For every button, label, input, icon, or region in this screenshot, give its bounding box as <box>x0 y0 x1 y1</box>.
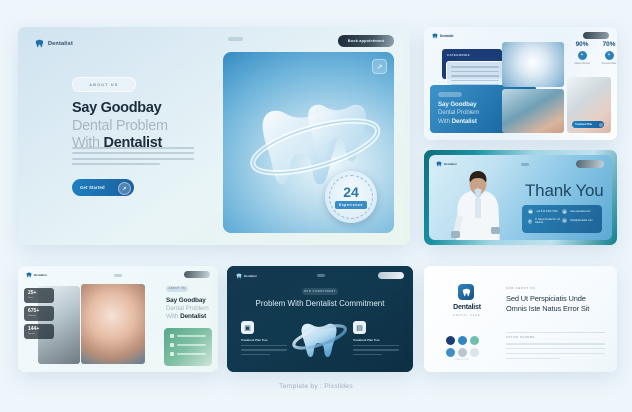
dental-chair-photo <box>502 89 564 133</box>
thank-you-inner: Dentalist Thank You ☎ +62 812 345 <box>429 155 612 240</box>
book-appointment-button[interactable]: Book appointment <box>338 35 394 47</box>
commitment-logo: Dentalist <box>236 273 257 279</box>
stat-chip-value: 144+ <box>28 327 50 332</box>
arrow-right-icon: ↗ <box>118 182 131 195</box>
check-box-icon <box>170 352 174 356</box>
hero-title-line2: Dental Problem <box>72 118 168 136</box>
hero-title-line1: Say Goodbay <box>72 100 168 118</box>
tooth-orbit-illustration <box>288 313 352 367</box>
smile-cta-button[interactable] <box>184 271 210 278</box>
tooth-icon <box>432 33 438 39</box>
stat-chip-0: 25+ Years <box>24 288 54 303</box>
hero-logo-label: Dentalist <box>48 41 73 47</box>
hero-eyebrow-pill: ABOUT US <box>72 77 136 92</box>
color-swatch-grid <box>446 336 479 357</box>
commitment-title: Problem With Dentalist Commitment <box>227 299 413 308</box>
stat-chip-label: Patients <box>28 315 50 317</box>
color-swatch[interactable] <box>470 348 479 357</box>
hero-logo[interactable]: Dentalist <box>35 39 73 48</box>
commitment-eyebrow-label: OUR COMMITMENT <box>304 290 336 293</box>
treatment-plan-button[interactable]: Treatment Plan <box>572 121 604 128</box>
contact-text: www.dentalist.com <box>570 210 591 213</box>
phone-icon: ☎ <box>528 209 533 214</box>
stat-chip-value: 675+ <box>28 309 50 314</box>
contact-item[interactable]: ☎ +62 812 3456 7890 <box>528 209 562 214</box>
thank-you-cta-button[interactable] <box>576 160 604 168</box>
smile-title-line2: Dental Problem <box>166 305 209 313</box>
smile-title-line3-bold: Dentalist <box>180 313 206 320</box>
smile-nav-placeholder[interactable] <box>114 274 122 277</box>
contact-item[interactable]: ◉ www.dentalist.com <box>562 209 596 214</box>
stats-cta-button[interactable] <box>583 32 609 39</box>
swatch-caption: PALETTE <box>446 359 479 361</box>
thank-you-logo-label: Dentalist <box>444 162 457 166</box>
stat-chip-label: Doctors <box>28 333 50 335</box>
calendar-icon: ▤ <box>353 321 366 334</box>
team-hands-photo <box>502 42 564 87</box>
smile-title-line1: Say Goodbay <box>166 297 209 305</box>
tooth-icon <box>26 272 32 278</box>
commitment-eyebrow-pill: OUR COMMITMENT <box>302 288 338 295</box>
stat-chip-value: 25+ <box>28 291 50 296</box>
hero-eyebrow-label: ABOUT US <box>89 83 118 87</box>
stat-chip-1: 675+ Patients <box>24 306 54 321</box>
contact-panel: ☎ +62 812 3456 7890 ● Jl. Raya Dental No… <box>522 205 602 233</box>
commitment-card-title: Treatment Plan Tree <box>241 338 287 342</box>
commitment-card-1[interactable]: ▤ Treatment Plan Tree <box>353 321 399 355</box>
contact-text: +62 812 3456 7890 <box>536 210 558 213</box>
color-swatch[interactable] <box>458 336 467 345</box>
color-swatch[interactable] <box>458 348 467 357</box>
stat-chip-2: 144+ Doctors <box>24 324 54 339</box>
commitment-card-title: Treatment Plan Tree <box>353 338 399 342</box>
contact-column-right: ◉ www.dentalist.com ✉ hello@dentalist.co… <box>562 209 596 229</box>
checklist-item <box>170 343 206 347</box>
treatment-plan-label: Treatment Plan <box>575 123 592 126</box>
hero-title: Say Goodbay Dental Problem With Dentalis… <box>72 100 168 153</box>
smile-logo-label: Dentalist <box>34 273 47 277</box>
brand-body-text <box>506 343 605 363</box>
brand-section-label: COLOR SCHEME <box>506 336 535 339</box>
commitment-logo-label: Dentalist <box>244 274 257 278</box>
expand-arrow-icon[interactable]: ↗ <box>372 59 387 74</box>
tooth-mark-icon <box>458 284 474 300</box>
brand-eyebrow: OUR ABOUT US <box>506 287 536 290</box>
color-swatch[interactable] <box>446 336 455 345</box>
mail-icon: ✉ <box>562 218 567 223</box>
dentist-portrait-photo <box>447 169 509 240</box>
globe-icon: ◉ <box>562 209 567 214</box>
color-swatch[interactable] <box>446 348 455 357</box>
get-started-label: Get Started <box>80 185 105 190</box>
color-swatch[interactable] <box>470 336 479 345</box>
smile-eyebrow-label: ABOUT US <box>169 288 186 290</box>
contact-text: hello@dentalist.com <box>570 219 593 222</box>
smile-title-line3-prefix: With <box>166 313 180 320</box>
stats-category-label: CATEGORIES <box>447 53 497 57</box>
commitment-slide[interactable]: Dentalist OUR COMMITMENT Problem With De… <box>227 266 413 372</box>
checklist-panel <box>164 328 212 366</box>
stats-title-line3-prefix: With <box>438 118 452 125</box>
stat-label: Clients Served <box>569 62 595 65</box>
stats-eyebrow-pill <box>438 92 462 97</box>
tooth-icon <box>436 161 442 167</box>
commitment-card-0[interactable]: ▣ Treatment Plan Tree <box>241 321 287 355</box>
check-box-icon <box>170 334 174 338</box>
brand-slide[interactable]: Dentalist DENTAL CARE PALETTE OUR ABOUT … <box>424 266 617 372</box>
contact-text: Jl. Raya Dental No. 24, Jakarta <box>535 218 562 224</box>
map-pin-icon: ● <box>528 219 532 224</box>
hero-body-text <box>72 147 194 168</box>
stat-value: 70% <box>596 41 617 48</box>
arrow-right-icon <box>599 123 603 127</box>
stats-title-line2: Dental Problem <box>438 109 479 116</box>
checklist-item <box>170 334 206 338</box>
contact-item[interactable]: ✉ hello@dentalist.com <box>562 218 596 223</box>
brand-subtitle: DENTAL CARE <box>446 314 488 317</box>
contact-column-left: ☎ +62 812 3456 7890 ● Jl. Raya Dental No… <box>528 209 562 229</box>
thank-you-slide[interactable]: Dentalist Thank You ☎ +62 812 345 <box>424 150 617 245</box>
commitment-nav-placeholder[interactable] <box>317 274 325 277</box>
brand-divider <box>506 332 605 333</box>
dental-tools-photo: Treatment Plan <box>567 77 611 133</box>
thank-you-title: Thank You <box>525 181 604 201</box>
book-appointment-label: Book appointment <box>348 39 385 43</box>
plus-circle-icon: + <box>578 51 587 60</box>
smiling-patient-photo <box>81 284 145 364</box>
stats-title-line1: Say Goodbay <box>438 101 476 108</box>
stat-item-1: 70% + Success Rate <box>596 41 617 65</box>
contact-item[interactable]: ● Jl. Raya Dental No. 24, Jakarta <box>528 218 562 224</box>
thank-you-nav-placeholder[interactable] <box>521 163 529 166</box>
checklist-item <box>170 352 206 356</box>
hero-slide-content: Dentalist Book appointment ABOUT US Say … <box>18 27 410 245</box>
footer-credit: Template by : Pixslides <box>0 383 632 390</box>
hero-nav-placeholder[interactable] <box>228 37 243 41</box>
stats-logo: Dentalist <box>432 33 453 39</box>
smile-slide[interactable]: Dentalist 25+ Years 675+ Patients 144+ D… <box>18 266 218 372</box>
smile-logo: Dentalist <box>26 272 47 278</box>
brand-title: Sed Ut Perspiciatis Unde Omnis Iste Natu… <box>506 294 605 315</box>
plus-circle-icon: + <box>605 51 614 60</box>
stat-item-0: 90% + Clients Served <box>569 41 595 65</box>
smile-title: Say Goodbay Dental Problem With Dentalis… <box>166 297 209 322</box>
tooth-icon <box>236 273 242 279</box>
tooth-icon <box>35 39 44 48</box>
get-started-button[interactable]: Get Started ↗ <box>72 179 134 196</box>
stat-chip-label: Years <box>28 297 50 299</box>
stats-title-line3-bold: Dentalist <box>452 118 477 125</box>
stat-label: Success Rate <box>596 62 617 65</box>
experience-badge: 24 Experience <box>325 171 377 223</box>
stats-slide[interactable]: Dentalist CATEGORIES Say Goodbay Dental … <box>424 27 617 140</box>
slide-deck-preview: Dentalist Book appointment ABOUT US Say … <box>0 0 632 412</box>
badge-ring <box>329 175 373 219</box>
stats-logo-label: Dentalist <box>440 34 453 38</box>
smile-title-line3: With Dentalist <box>166 313 209 321</box>
brand-name: Dentalist <box>446 304 488 311</box>
smile-eyebrow-pill: ABOUT US <box>166 286 188 292</box>
check-box-icon <box>170 343 174 347</box>
thank-you-logo: Dentalist <box>436 161 457 167</box>
stat-value: 90% <box>569 41 595 48</box>
commitment-cta-button[interactable] <box>378 272 404 279</box>
clipboard-icon: ▣ <box>241 321 254 334</box>
hero-slide[interactable]: Dentalist Book appointment ABOUT US Say … <box>18 27 410 245</box>
tooth-icon <box>462 288 471 297</box>
